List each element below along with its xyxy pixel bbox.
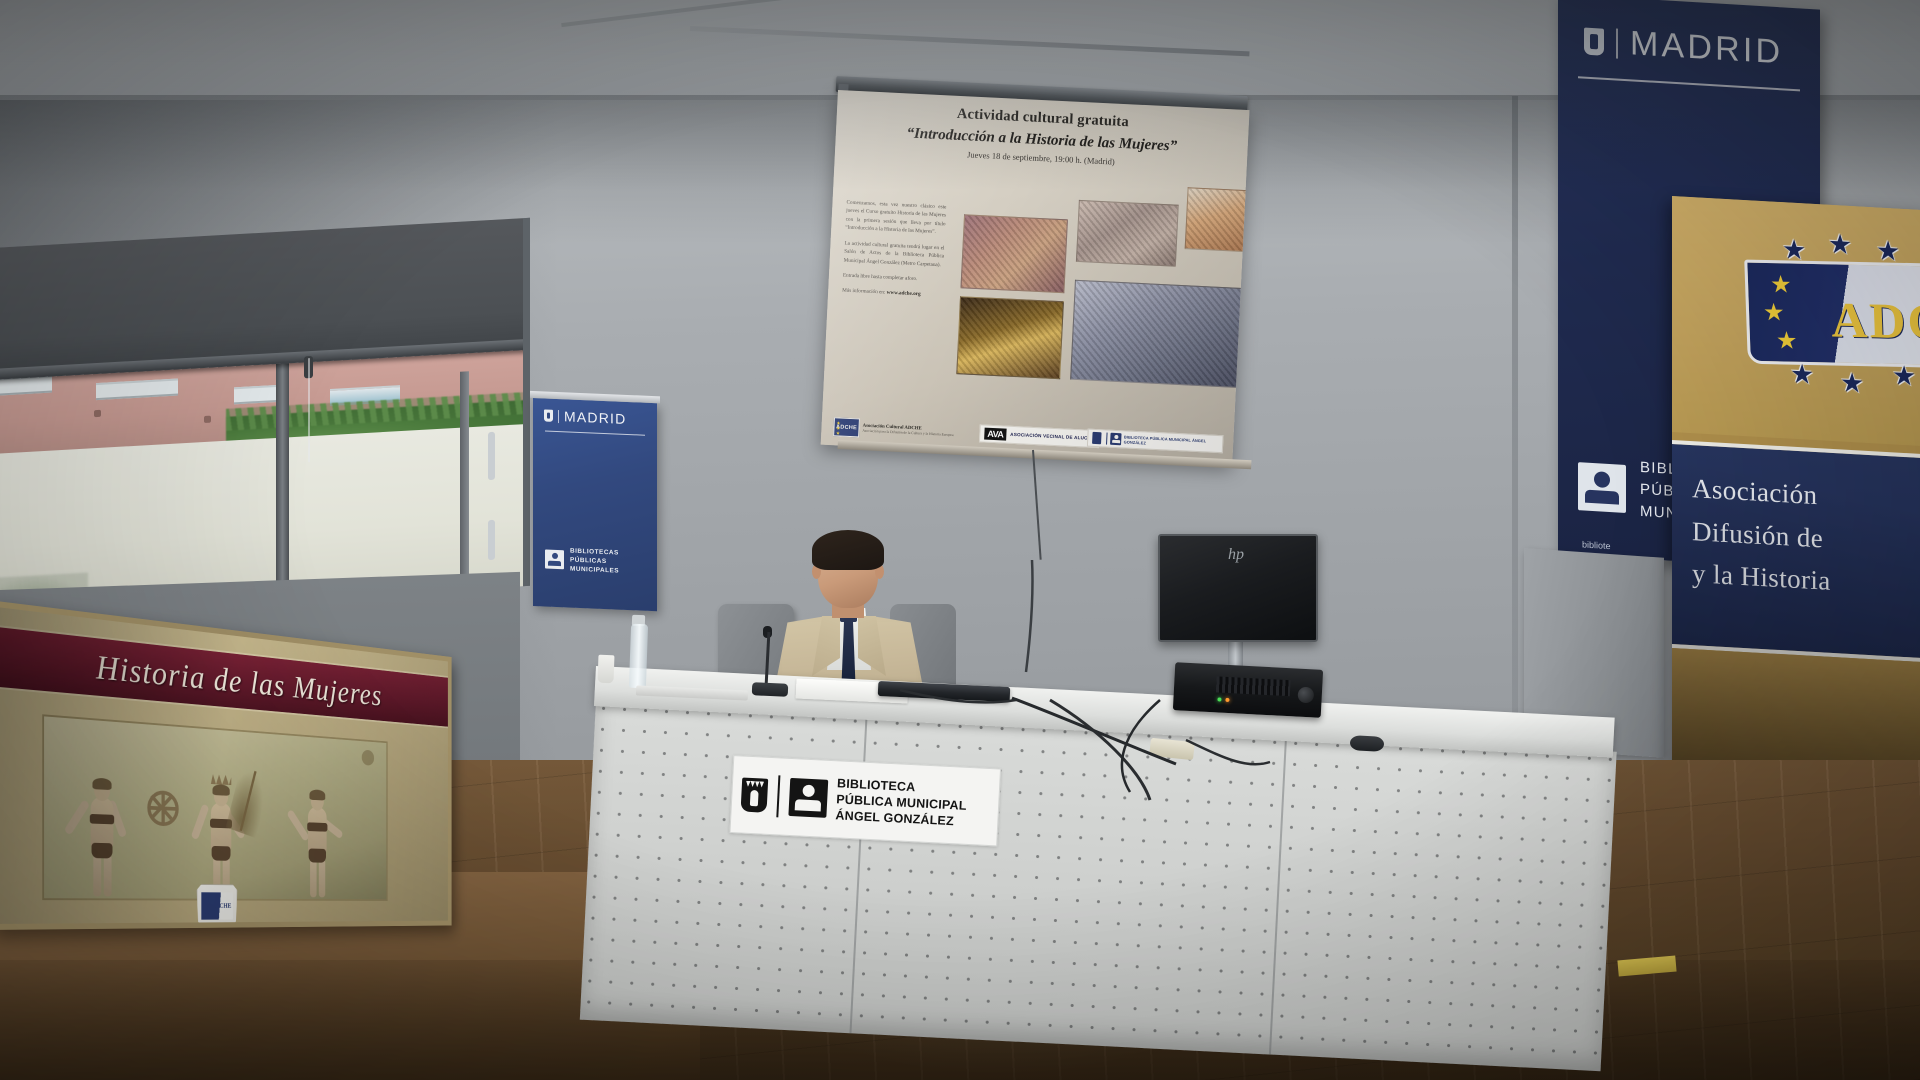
poster-emblem-text: ADCHE bbox=[211, 902, 232, 909]
conference-room-photo: Actividad cultural gratuita “Introducció… bbox=[0, 0, 1920, 1080]
mosaic-palm-frond bbox=[226, 766, 272, 839]
adche-flag-icon: ★ ★ ★ ADCHE bbox=[201, 892, 233, 919]
mosaic-crown bbox=[211, 774, 231, 785]
poster-title: Historia de las Mujeres bbox=[96, 647, 382, 714]
poster-historia-de-las-mujeres: Historia de las Mujeres bbox=[0, 600, 452, 930]
poster-mosaic-artwork bbox=[42, 714, 387, 901]
mosaic-disc bbox=[362, 750, 374, 766]
poster-adche-emblem: ★ ★ ★ ADCHE bbox=[197, 884, 238, 928]
mosaic-wheel-spokes bbox=[147, 790, 178, 827]
